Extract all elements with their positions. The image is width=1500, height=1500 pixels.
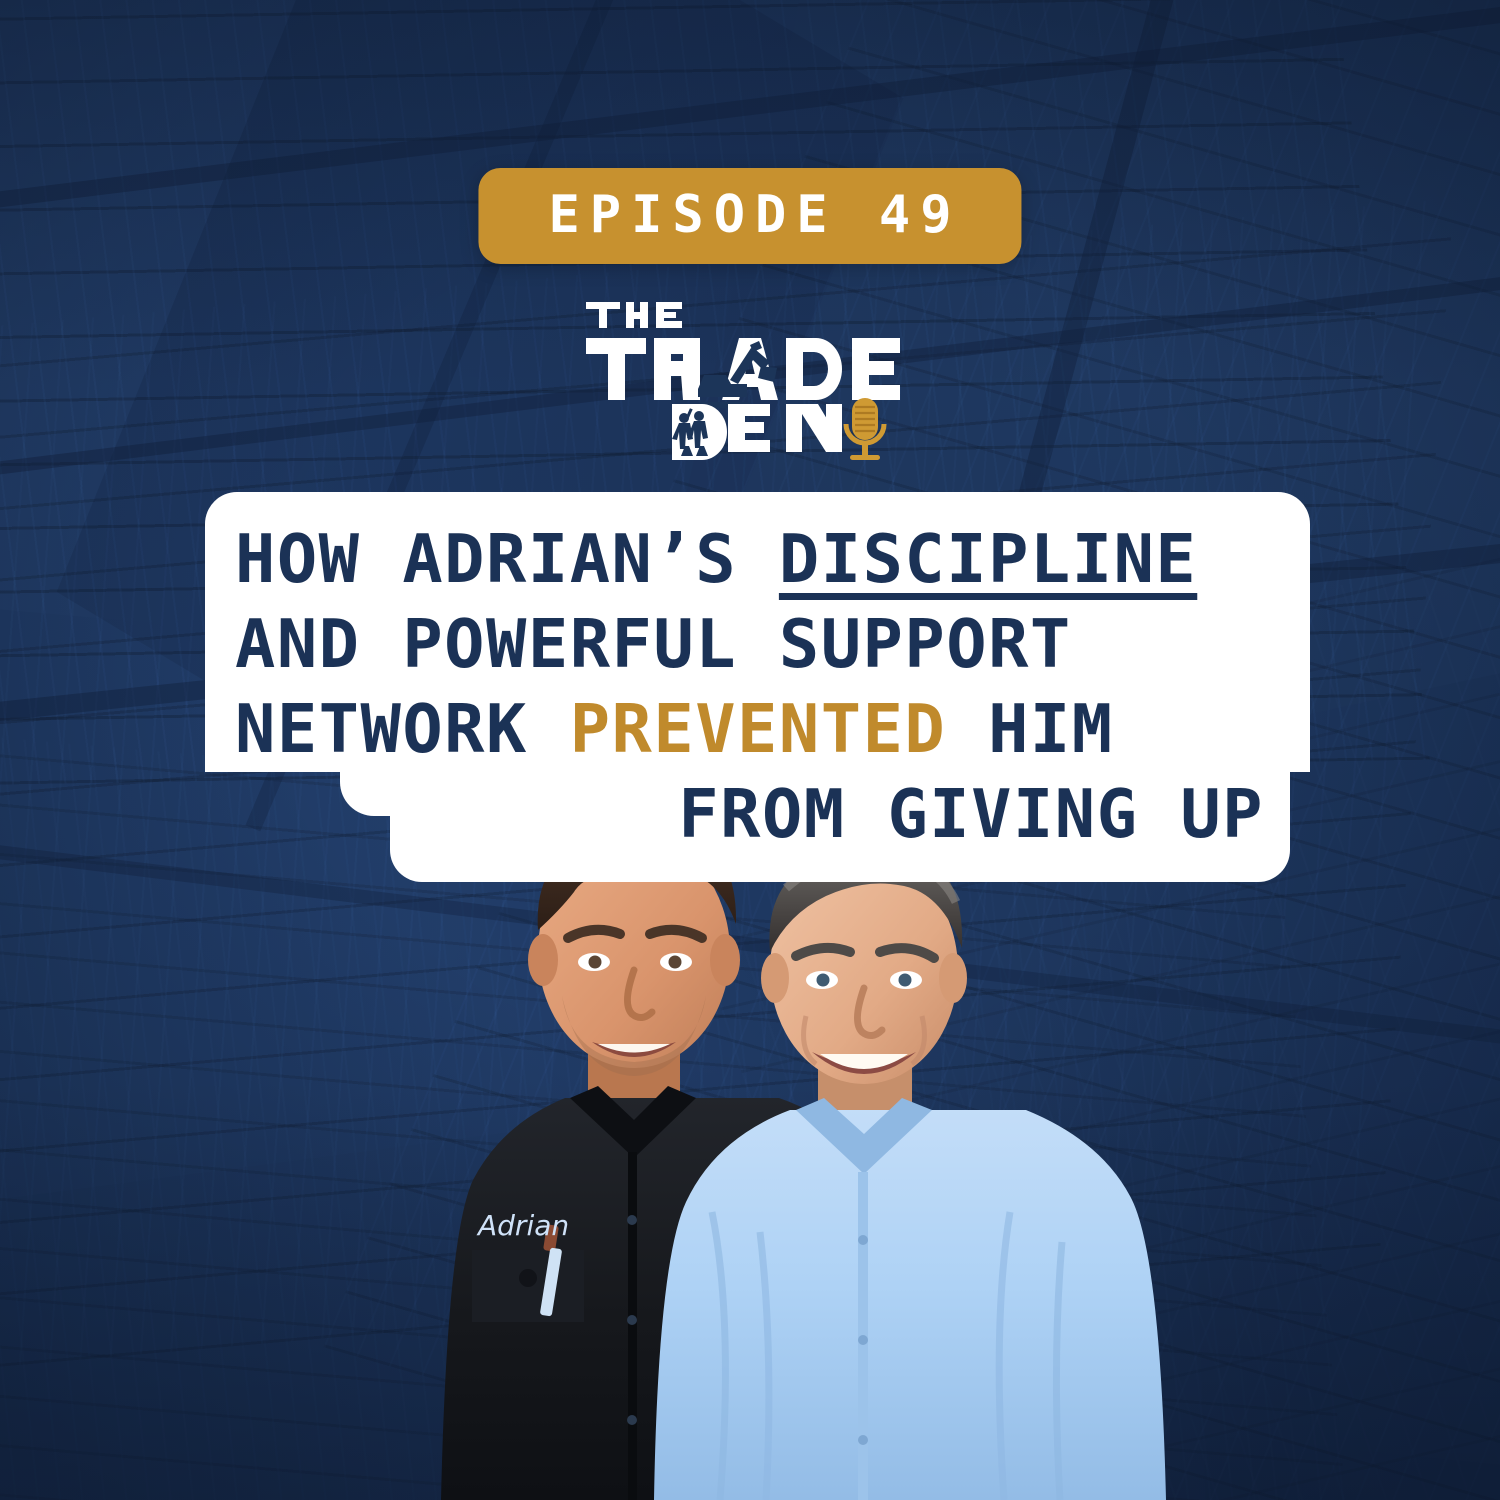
pocket-button: [519, 1269, 537, 1287]
retro-microphone-icon: [846, 398, 884, 460]
shirt-button: [858, 1235, 868, 1245]
ear-left: [528, 934, 558, 986]
episode-badge-label: EPISODE 49: [538, 189, 961, 241]
shirt-button: [627, 1215, 637, 1225]
title-line-3-text-c: HIM: [946, 690, 1113, 768]
title-line-4: FROM GIVING UP: [390, 772, 1290, 882]
ear-right-right-person: [939, 953, 967, 1003]
shirt-button: [627, 1415, 637, 1425]
trade-den-logo: [580, 292, 920, 452]
shirt-blue: [654, 1110, 1166, 1500]
ear-left-right-person: [761, 953, 789, 1003]
shirt-button: [858, 1435, 868, 1445]
title-keyword-discipline: DISCIPLINE: [779, 520, 1197, 598]
title-line-2-text: AND POWERFUL SUPPORT: [235, 605, 1072, 683]
title-line-3: NETWORK PREVENTED HIM: [205, 687, 1310, 772]
episode-title-card: HOW ADRIAN’S DISCIPLINE AND POWERFUL SUP…: [205, 492, 1310, 882]
logo-the-text: [586, 302, 682, 328]
episode-badge: EPISODE 49: [478, 168, 1021, 264]
shirt-button: [627, 1315, 637, 1325]
title-line-2: AND POWERFUL SUPPORT: [205, 602, 1310, 687]
title-line-4-text: FROM GIVING UP: [678, 775, 1264, 853]
episode-cover: EPISODE 49: [0, 0, 1500, 1500]
shirt-placket: [628, 1152, 637, 1500]
title-line-1-text-a: HOW ADRIAN’S: [235, 520, 779, 598]
title-keyword-prevented: PREVENTED: [570, 690, 947, 768]
ear-right: [710, 934, 740, 986]
title-line-1: HOW ADRIAN’S DISCIPLINE: [205, 492, 1310, 602]
hosts-photo: Adrian: [0, 780, 1500, 1500]
shirt-name-embroidery: Adrian: [476, 1209, 569, 1242]
shirt-button: [858, 1335, 868, 1345]
title-line-3-text-a: NETWORK: [235, 690, 570, 768]
